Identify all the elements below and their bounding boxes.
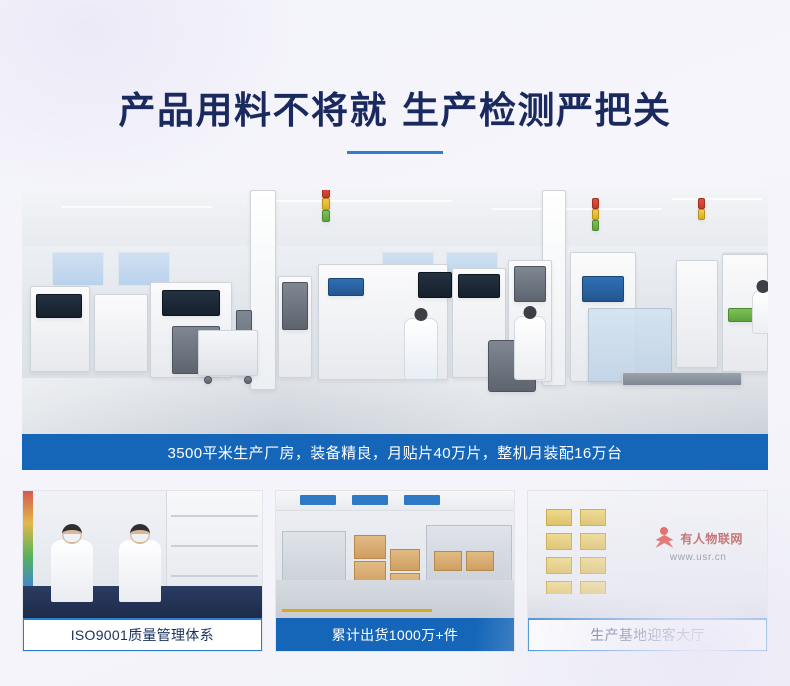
brand-logo-block: 有人物联网 www.usr.cn bbox=[636, 527, 760, 563]
smt-machine bbox=[94, 294, 148, 372]
warehouse-floor bbox=[276, 580, 515, 620]
gallery-card-lobby[interactable]: 有人物联网 www.usr.cn 生产基地迎客大厅 bbox=[527, 490, 768, 652]
signal-tower-light bbox=[592, 198, 599, 209]
card-caption-quality: ISO9001质量管理体系 bbox=[23, 618, 262, 651]
machine-body bbox=[282, 282, 308, 330]
wall-plaque bbox=[580, 557, 606, 574]
overhead-sign bbox=[404, 495, 440, 505]
wall-plaque bbox=[546, 557, 572, 574]
worker-head bbox=[757, 280, 769, 293]
smt-machine bbox=[676, 260, 718, 368]
machine-glass-door bbox=[588, 308, 672, 382]
wall-plaque bbox=[580, 509, 606, 526]
machine-screen bbox=[418, 272, 452, 298]
card-photo-warehouse bbox=[276, 491, 515, 620]
reception-counter bbox=[528, 594, 767, 620]
card-caption-text: 累计出货1000万+件 bbox=[332, 625, 459, 645]
worker-person bbox=[51, 540, 93, 602]
card-caption-text: 生产基地迎客大厅 bbox=[590, 625, 704, 645]
signal-tower-light bbox=[322, 198, 330, 210]
hero-photo-image bbox=[22, 190, 768, 470]
ceiling-light bbox=[672, 198, 762, 200]
worker-person bbox=[119, 540, 161, 602]
hero-caption-bar: 3500平米生产厂房，装备精良，月贴片40万片，整机月装配16万台 bbox=[22, 434, 768, 470]
cart-wheel bbox=[244, 376, 252, 384]
ceiling-light bbox=[272, 200, 452, 202]
hero-photo-block: 3500平米生产厂房，装备精良，月贴片40万片，整机月装配16万台 bbox=[22, 190, 768, 470]
page-title-part-1: 产品用料不将就 bbox=[119, 90, 389, 131]
worker-head bbox=[415, 308, 428, 321]
ceiling-light bbox=[62, 206, 212, 208]
usr-logo-icon bbox=[653, 527, 675, 549]
safety-rail bbox=[282, 609, 432, 612]
hero-caption-text: 3500平米生产厂房，装备精良，月贴片40万片，整机月装配16万台 bbox=[168, 442, 623, 463]
logo-figure bbox=[655, 535, 673, 548]
window-panel bbox=[52, 252, 104, 286]
carton-box bbox=[354, 535, 386, 559]
worker-person bbox=[752, 290, 768, 334]
wall-plaque bbox=[546, 509, 572, 526]
carton-box bbox=[434, 551, 462, 571]
signal-tower-light bbox=[322, 210, 330, 222]
lobby-wall-scene: 有人物联网 www.usr.cn bbox=[528, 491, 767, 620]
card-caption-shipments: 累计出货1000万+件 bbox=[276, 618, 515, 651]
machine-screen bbox=[162, 290, 220, 316]
conveyor-belt bbox=[622, 372, 742, 386]
signal-tower-light bbox=[322, 190, 330, 198]
machine-label-panel bbox=[328, 278, 364, 296]
page-title: 产品用料不将就生产检测严把关 bbox=[0, 80, 790, 134]
card-photo-lobby: 有人物联网 www.usr.cn bbox=[528, 491, 767, 620]
shelf-board bbox=[171, 515, 258, 517]
overhead-sign bbox=[300, 495, 336, 505]
ceiling-band bbox=[22, 190, 768, 248]
gallery-cards: ISO9001质量管理体系 bbox=[22, 490, 768, 652]
shelf-board bbox=[171, 545, 258, 547]
carton-box bbox=[466, 551, 494, 571]
logo-head-dot bbox=[660, 527, 668, 535]
overhead-sign bbox=[352, 495, 388, 505]
cart-wheel bbox=[204, 376, 212, 384]
shelf-board bbox=[171, 575, 258, 577]
wall-plaque bbox=[580, 533, 606, 550]
title-underline-rule bbox=[347, 151, 443, 154]
promo-page: 产品用料不将就生产检测严把关 bbox=[0, 0, 790, 686]
machine-label-panel bbox=[582, 276, 624, 302]
gallery-card-shipments[interactable]: 累计出货1000万+件 bbox=[275, 490, 516, 652]
workshop-bench-scene bbox=[23, 491, 262, 620]
worker-head bbox=[524, 306, 537, 319]
card-caption-lobby: 生产基地迎客大厅 bbox=[528, 618, 767, 651]
signal-tower-light bbox=[592, 209, 599, 220]
window-panel bbox=[118, 252, 170, 286]
worker-person bbox=[404, 318, 438, 380]
machine-screen bbox=[36, 294, 82, 318]
card-photo-quality bbox=[23, 491, 262, 620]
card-caption-text: ISO9001质量管理体系 bbox=[71, 625, 214, 645]
brand-logo-row: 有人物联网 bbox=[636, 527, 760, 549]
signal-tower-light bbox=[592, 220, 599, 231]
signal-tower-light bbox=[698, 209, 705, 220]
material-cart bbox=[198, 330, 258, 376]
page-title-part-2: 生产检测严把关 bbox=[402, 90, 672, 131]
worker-person bbox=[514, 316, 546, 380]
machine-body bbox=[514, 266, 546, 302]
warehouse-scene bbox=[276, 491, 515, 620]
brand-name: 有人物联网 bbox=[680, 530, 743, 547]
ceiling-light bbox=[492, 208, 662, 210]
brand-url: www.usr.cn bbox=[636, 552, 760, 563]
wall-plaque bbox=[546, 533, 572, 550]
gallery-card-quality[interactable]: ISO9001质量管理体系 bbox=[22, 490, 263, 652]
machine-screen bbox=[458, 274, 500, 298]
carton-box bbox=[390, 549, 420, 571]
signal-tower-light bbox=[698, 198, 705, 209]
